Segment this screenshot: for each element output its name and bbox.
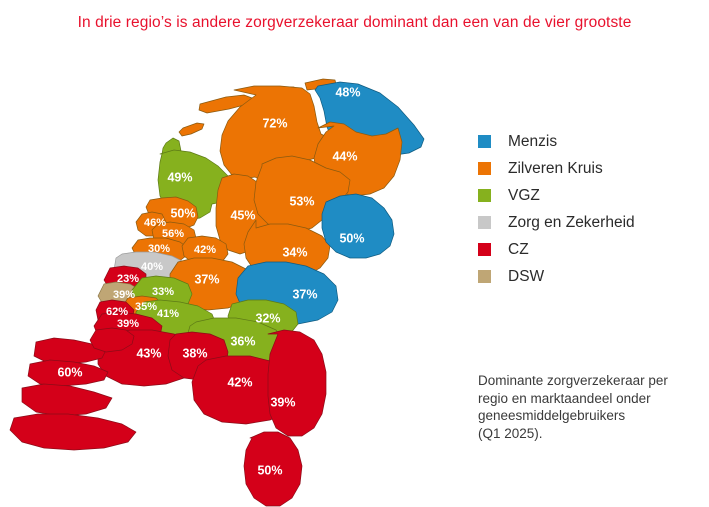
legend: Menzis Zilveren Kruis VGZ Zorg en Zekerh… bbox=[478, 128, 635, 290]
label-33: 33% bbox=[152, 286, 174, 298]
label-60: 60% bbox=[57, 365, 82, 379]
legend-item-menzis[interactable]: Menzis bbox=[478, 128, 635, 155]
legend-swatch-zilveren-kruis bbox=[478, 162, 491, 175]
region-50b-menzis[interactable] bbox=[322, 194, 394, 258]
legend-swatch-zorg-en-zekerheid bbox=[478, 216, 491, 229]
label-49: 49% bbox=[167, 170, 192, 184]
caption: Dominante zorgverzekeraar per regio en m… bbox=[478, 372, 693, 442]
legend-label-dsw: DSW bbox=[508, 269, 544, 285]
label-56: 56% bbox=[162, 228, 184, 240]
label-43: 43% bbox=[136, 346, 161, 360]
page-title: In drie regio’s is andere zorgverzekeraa… bbox=[0, 14, 709, 32]
label-36: 36% bbox=[230, 334, 255, 348]
label-23: 23% bbox=[117, 273, 139, 285]
label-35: 35% bbox=[135, 301, 157, 313]
legend-label-zorg-en-zekerheid: Zorg en Zekerheid bbox=[508, 215, 635, 231]
label-39c: 39% bbox=[270, 395, 295, 409]
label-42a: 42% bbox=[194, 244, 216, 256]
label-39b: 39% bbox=[117, 318, 139, 330]
label-37b: 37% bbox=[292, 287, 317, 301]
label-42b: 42% bbox=[227, 375, 252, 389]
caption-line-3: geneesmiddelgebruikers bbox=[478, 407, 693, 425]
label-37a: 37% bbox=[194, 272, 219, 286]
legend-item-zorg-en-zekerheid[interactable]: Zorg en Zekerheid bbox=[478, 209, 635, 236]
label-41: 41% bbox=[157, 308, 179, 320]
label-30: 30% bbox=[148, 243, 170, 255]
netherlands-insurer-map: 48% 72% 44% 49% 50% 45% 53% 46% 56% 30% … bbox=[0, 42, 470, 507]
region-39c-cz[interactable] bbox=[268, 330, 326, 436]
label-44: 44% bbox=[332, 149, 357, 163]
label-32: 32% bbox=[255, 311, 280, 325]
legend-swatch-cz bbox=[478, 243, 491, 256]
caption-line-1: Dominante zorgverzekeraar per bbox=[478, 372, 693, 390]
legend-swatch-menzis bbox=[478, 135, 491, 148]
legend-swatch-dsw bbox=[478, 270, 491, 283]
zeeland-zeeuws-vlaanderen bbox=[10, 414, 136, 450]
label-40: 40% bbox=[141, 261, 163, 273]
map-svg: 48% 72% 44% 49% 50% 45% 53% 46% 56% 30% … bbox=[0, 42, 470, 507]
caption-line-2: regio en marktaandeel onder bbox=[478, 390, 693, 408]
legend-label-cz: CZ bbox=[508, 242, 529, 258]
caption-line-4: (Q1 2025). bbox=[478, 425, 693, 443]
label-39a: 39% bbox=[113, 289, 135, 301]
label-34: 34% bbox=[282, 245, 307, 259]
label-50c: 50% bbox=[257, 463, 282, 477]
label-53: 53% bbox=[289, 194, 314, 208]
legend-label-zilveren-kruis: Zilveren Kruis bbox=[508, 161, 603, 177]
label-38: 38% bbox=[182, 346, 207, 360]
label-48: 48% bbox=[335, 85, 360, 99]
zeeland-walcheren bbox=[22, 384, 112, 416]
label-50b: 50% bbox=[339, 231, 364, 245]
label-45: 45% bbox=[230, 208, 255, 222]
legend-item-zilveren-kruis[interactable]: Zilveren Kruis bbox=[478, 155, 635, 182]
legend-item-cz[interactable]: CZ bbox=[478, 236, 635, 263]
legend-label-vgz: VGZ bbox=[508, 188, 540, 204]
label-50a: 50% bbox=[170, 206, 195, 220]
legend-label-menzis: Menzis bbox=[508, 134, 557, 150]
legend-swatch-vgz bbox=[478, 189, 491, 202]
label-62: 62% bbox=[106, 306, 128, 318]
legend-item-vgz[interactable]: VGZ bbox=[478, 182, 635, 209]
label-72: 72% bbox=[262, 116, 287, 130]
legend-item-dsw[interactable]: DSW bbox=[478, 263, 635, 290]
region-60-cz[interactable] bbox=[10, 328, 136, 450]
island-vlieland bbox=[179, 123, 204, 136]
